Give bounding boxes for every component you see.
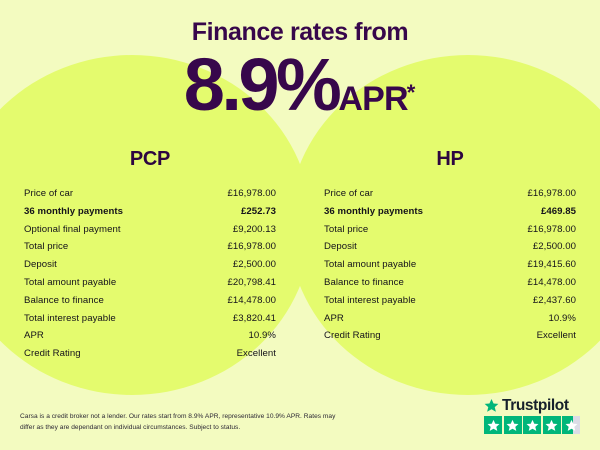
plan-comparison: PCP Price of car £16,978.00 36 monthly p… — [0, 148, 600, 363]
table-row: Total amount payable £19,415.60 — [324, 256, 576, 274]
row-label: Credit Rating — [24, 349, 81, 359]
row-label: Total interest payable — [324, 296, 416, 306]
row-label: Price of car — [324, 189, 373, 199]
plan-rows-pcp: Price of car £16,978.00 36 monthly payme… — [0, 185, 300, 363]
rate-asterisk: * — [407, 80, 416, 105]
row-label: Optional final payment — [24, 225, 121, 235]
trustpilot-wordmark: Trustpilot — [502, 398, 569, 414]
row-value: £14,478.00 — [227, 296, 276, 306]
row-label: Credit Rating — [324, 331, 381, 341]
row-value: £14,478.00 — [527, 278, 576, 288]
star-rating — [484, 416, 588, 434]
table-row: Deposit £2,500.00 — [24, 256, 276, 274]
row-value: Excellent — [237, 349, 276, 359]
promo-card: Finance rates from 8.9%APR* PCP Price of… — [0, 0, 600, 450]
table-row: Credit Rating Excellent — [24, 345, 276, 363]
row-value: £20,798.41 — [227, 278, 276, 288]
plan-rows-hp: Price of car £16,978.00 36 monthly payme… — [300, 185, 600, 345]
row-value: £2,500.00 — [233, 260, 276, 270]
table-row: 36 monthly payments £469.85 — [324, 203, 576, 221]
row-label: Price of car — [24, 189, 73, 199]
star-icon-1 — [484, 416, 502, 434]
table-row: Total amount payable £20,798.41 — [24, 274, 276, 292]
rate-suffix: APR — [338, 80, 407, 118]
row-value: Excellent — [537, 331, 576, 341]
trustpilot-star-icon — [484, 398, 499, 413]
row-label: Balance to finance — [324, 278, 404, 288]
table-row: APR 10.9% — [324, 309, 576, 327]
trustpilot-rating[interactable]: Trustpilot — [484, 398, 588, 435]
row-value: £469.85 — [541, 207, 576, 217]
table-row: Balance to finance £14,478.00 — [324, 274, 576, 292]
row-value: £16,978.00 — [527, 225, 576, 235]
table-row: Total interest payable £2,437.60 — [324, 292, 576, 310]
row-label: Total amount payable — [24, 278, 116, 288]
row-value: £9,200.13 — [233, 225, 276, 235]
star-icon-4 — [543, 416, 561, 434]
row-value: £252.73 — [241, 207, 276, 217]
plan-title-hp: HP — [300, 148, 600, 171]
table-row: Credit Rating Excellent — [324, 327, 576, 345]
row-value: £16,978.00 — [227, 189, 276, 199]
table-row: Total interest payable £3,820.41 — [24, 309, 276, 327]
row-label: Deposit — [324, 242, 357, 252]
row-label: APR — [324, 314, 344, 324]
row-label: Total price — [24, 242, 68, 252]
plan-column-pcp: PCP Price of car £16,978.00 36 monthly p… — [0, 148, 300, 363]
star-icon-2 — [504, 416, 522, 434]
row-label: Deposit — [24, 260, 57, 270]
row-value: 10.9% — [249, 331, 276, 341]
legal-disclaimer: Carsa is a credit broker not a lender. O… — [20, 411, 350, 434]
row-value: £2,500.00 — [533, 242, 576, 252]
plan-column-hp: HP Price of car £16,978.00 36 monthly pa… — [300, 148, 600, 363]
star-icon-3 — [523, 416, 541, 434]
row-value: £3,820.41 — [233, 314, 276, 324]
table-row: Price of car £16,978.00 — [324, 185, 576, 203]
row-label: Total interest payable — [24, 314, 116, 324]
table-row: Optional final payment £9,200.13 — [24, 221, 276, 239]
row-value: £19,415.60 — [527, 260, 576, 270]
trustpilot-logo: Trustpilot — [484, 398, 588, 414]
table-row: Balance to finance £14,478.00 — [24, 292, 276, 310]
row-label: 36 monthly payments — [324, 207, 423, 217]
table-row: 36 monthly payments £252.73 — [24, 203, 276, 221]
row-value: £16,978.00 — [227, 242, 276, 252]
row-label: 36 monthly payments — [24, 207, 123, 217]
rate-value: 8.9% — [184, 43, 339, 126]
row-value: £2,437.60 — [533, 296, 576, 306]
row-label: Total price — [324, 225, 368, 235]
table-row: APR 10.9% — [24, 327, 276, 345]
row-value: 10.9% — [549, 314, 576, 324]
row-label: Balance to finance — [24, 296, 104, 306]
headline-rate: 8.9%APR* — [0, 48, 600, 122]
row-value: £16,978.00 — [527, 189, 576, 199]
table-row: Price of car £16,978.00 — [24, 185, 276, 203]
row-label: Total amount payable — [324, 260, 416, 270]
table-row: Deposit £2,500.00 — [324, 238, 576, 256]
plan-title-pcp: PCP — [0, 148, 300, 171]
table-row: Total price £16,978.00 — [24, 238, 276, 256]
table-row: Total price £16,978.00 — [324, 221, 576, 239]
row-label: APR — [24, 331, 44, 341]
star-icon-5-partial — [562, 416, 580, 434]
